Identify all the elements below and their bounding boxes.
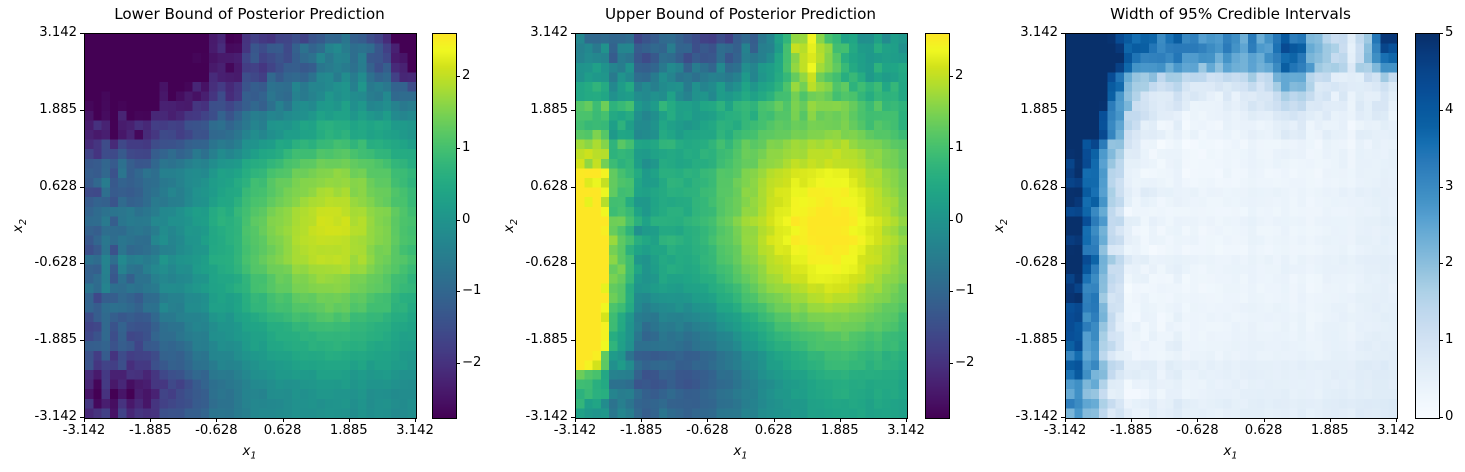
x-tick-label: -0.628: [1176, 424, 1219, 438]
heatmap-axes[interactable]: [84, 33, 417, 419]
colorbar-tick: [1439, 187, 1443, 188]
x-tick: [641, 418, 642, 422]
y-tick-label: -3.142: [525, 410, 568, 424]
panel-0: Lower Bound of Posterior Prediction-3.14…: [0, 0, 488, 472]
y-tick-label: 0.628: [39, 180, 77, 194]
colorbar-tick: [949, 291, 953, 292]
x-tick-label: -1.885: [129, 424, 172, 438]
y-tick-label: 3.142: [530, 26, 568, 40]
x-tick-label: -3.142: [63, 424, 106, 438]
y-tick: [80, 187, 84, 188]
panel-1: Upper Bound of Posterior Prediction-3.14…: [489, 0, 977, 472]
colorbar-tick: [949, 363, 953, 364]
y-axis-label-base: x: [502, 225, 517, 233]
x-axis-label-base: x: [734, 444, 742, 459]
y-axis-label-subscript: 2: [509, 219, 520, 225]
colorbar-tick-label: 5: [1445, 26, 1453, 40]
panel-title: Upper Bound of Posterior Prediction: [575, 4, 906, 24]
colorbar-tick-label: 0: [955, 213, 963, 227]
colorbar-tick-label: −1: [955, 284, 974, 298]
y-tick-label: 3.142: [39, 26, 77, 40]
colorbar-tick: [456, 148, 460, 149]
y-tick: [80, 417, 84, 418]
colorbar-tick: [456, 76, 460, 77]
x-tick: [774, 418, 775, 422]
x-tick-label: 0.628: [1245, 424, 1283, 438]
y-tick: [571, 263, 575, 264]
colorbar-gradient: [1416, 34, 1439, 418]
colorbar-tick-label: 1: [1445, 333, 1453, 347]
x-tick: [1396, 418, 1397, 422]
colorbar-tick-label: −2: [955, 356, 974, 370]
x-tick: [1330, 418, 1331, 422]
y-tick: [80, 110, 84, 111]
y-axis-label: x2: [992, 214, 1010, 238]
x-tick: [840, 418, 841, 422]
panel-title: Lower Bound of Posterior Prediction: [84, 4, 415, 24]
panel-2: Width of 95% Credible Intervals-3.142-1.…: [977, 0, 1465, 472]
colorbar[interactable]: [432, 33, 457, 419]
y-tick: [1061, 33, 1065, 34]
colorbar-gradient: [926, 34, 949, 418]
colorbar-tick: [949, 76, 953, 77]
colorbar-tick-label: 3: [1445, 180, 1453, 194]
y-tick: [571, 340, 575, 341]
y-tick-label: 0.628: [530, 180, 568, 194]
x-tick-label: 3.142: [887, 424, 925, 438]
y-tick-label: -1.885: [34, 333, 77, 347]
heatmap-image: [576, 34, 907, 418]
x-axis-label: x1: [1224, 444, 1238, 462]
colorbar-tick: [1439, 263, 1443, 264]
colorbar-tick-label: 2: [462, 69, 470, 83]
x-tick: [150, 418, 151, 422]
x-tick-label: -0.628: [195, 424, 238, 438]
y-tick: [80, 263, 84, 264]
colorbar[interactable]: [1415, 33, 1440, 419]
x-axis-label-subscript: 1: [250, 451, 256, 462]
y-tick-label: -3.142: [1015, 410, 1058, 424]
x-axis-label: x1: [243, 444, 257, 462]
y-tick-label: -3.142: [34, 410, 77, 424]
y-tick-label: 1.885: [1020, 103, 1058, 117]
heatmap-axes[interactable]: [575, 33, 908, 419]
y-tick: [1061, 263, 1065, 264]
heatmap-image: [85, 34, 416, 418]
y-tick: [1061, 110, 1065, 111]
colorbar-tick: [1439, 340, 1443, 341]
x-tick-label: 0.628: [755, 424, 793, 438]
x-axis-label: x1: [734, 444, 748, 462]
colorbar-tick-label: 1: [955, 141, 963, 155]
heatmap-image: [1066, 34, 1397, 418]
colorbar-tick-label: 1: [462, 141, 470, 155]
y-axis-label: x2: [11, 214, 29, 238]
y-tick-label: -0.628: [525, 256, 568, 270]
x-tick-label: 3.142: [1377, 424, 1415, 438]
colorbar-tick-label: 4: [1445, 103, 1453, 117]
y-tick: [571, 33, 575, 34]
y-tick-label: -1.885: [525, 333, 568, 347]
y-tick: [80, 340, 84, 341]
panel-title: Width of 95% Credible Intervals: [1065, 4, 1396, 24]
x-axis-label-subscript: 1: [741, 451, 747, 462]
x-tick-label: 3.142: [396, 424, 434, 438]
colorbar-tick-label: 2: [1445, 256, 1453, 270]
x-tick-label: -0.628: [686, 424, 729, 438]
y-axis-label-subscript: 2: [999, 219, 1010, 225]
colorbar-tick-label: 0: [462, 213, 470, 227]
x-axis-label-base: x: [1224, 444, 1232, 459]
colorbar-tick: [949, 148, 953, 149]
x-tick: [216, 418, 217, 422]
y-tick-label: 1.885: [530, 103, 568, 117]
y-tick-label: -0.628: [34, 256, 77, 270]
x-tick-label: -3.142: [554, 424, 597, 438]
y-tick-label: -1.885: [1015, 333, 1058, 347]
colorbar-gradient: [433, 34, 456, 418]
x-tick-label: -1.885: [1110, 424, 1153, 438]
y-tick: [1061, 340, 1065, 341]
colorbar-tick: [1439, 417, 1443, 418]
y-tick: [571, 187, 575, 188]
x-axis-label-base: x: [243, 444, 251, 459]
x-tick: [349, 418, 350, 422]
y-axis-label-base: x: [992, 225, 1007, 233]
colorbar-tick: [456, 363, 460, 364]
x-tick: [415, 418, 416, 422]
y-axis-label: x2: [502, 214, 520, 238]
x-tick: [1131, 418, 1132, 422]
y-tick: [571, 110, 575, 111]
x-axis-label-subscript: 1: [1231, 451, 1237, 462]
x-tick-label: -1.885: [620, 424, 663, 438]
colorbar-tick-label: 0: [1445, 410, 1453, 424]
x-tick: [575, 418, 576, 422]
y-tick-label: 0.628: [1020, 180, 1058, 194]
y-tick: [1061, 417, 1065, 418]
colorbar-tick: [456, 220, 460, 221]
x-tick-label: 1.885: [1311, 424, 1349, 438]
y-tick: [1061, 187, 1065, 188]
x-tick-label: 0.628: [264, 424, 302, 438]
x-tick: [1197, 418, 1198, 422]
colorbar-tick: [1439, 110, 1443, 111]
x-tick: [906, 418, 907, 422]
colorbar-tick-label: −2: [462, 356, 481, 370]
x-tick: [283, 418, 284, 422]
colorbar-tick-label: 2: [955, 69, 963, 83]
heatmap-axes[interactable]: [1065, 33, 1398, 419]
colorbar[interactable]: [925, 33, 950, 419]
y-axis-label-base: x: [11, 225, 26, 233]
colorbar-tick: [1439, 33, 1443, 34]
y-tick-label: -0.628: [1015, 256, 1058, 270]
colorbar-tick-label: −1: [462, 284, 481, 298]
figure-canvas: Lower Bound of Posterior Prediction-3.14…: [0, 0, 1465, 472]
x-tick: [1264, 418, 1265, 422]
y-tick-label: 1.885: [39, 103, 77, 117]
y-tick: [571, 417, 575, 418]
x-tick-label: -3.142: [1044, 424, 1087, 438]
colorbar-tick: [456, 291, 460, 292]
x-tick: [84, 418, 85, 422]
x-tick-label: 1.885: [821, 424, 859, 438]
y-tick-label: 3.142: [1020, 26, 1058, 40]
x-tick-label: 1.885: [330, 424, 368, 438]
x-tick: [1065, 418, 1066, 422]
y-axis-label-subscript: 2: [18, 219, 29, 225]
y-tick: [80, 33, 84, 34]
x-tick: [707, 418, 708, 422]
colorbar-tick: [949, 220, 953, 221]
